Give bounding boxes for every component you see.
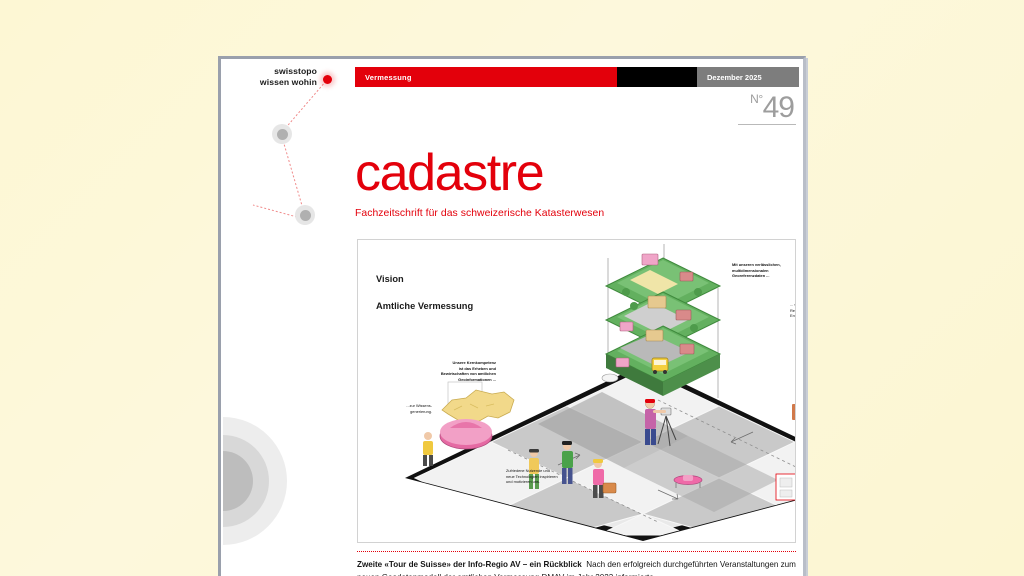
caption-kernkompetenz: Unsere Kernkompetenz ist das Erheben und… bbox=[384, 360, 496, 382]
caption-nutzende: Zufriedene Nutzende und neue Technologie… bbox=[506, 468, 636, 485]
page-inner: swisstopo wissen wohin Vermessung Dezemb… bbox=[223, 61, 802, 576]
teaser-text: Zweite «Tour de Suisse» der Info-Regio A… bbox=[357, 558, 796, 576]
masthead: cadastre Fachzeitschrift für das schweiz… bbox=[355, 147, 775, 219]
caption-grundbuch: Wir liefern dem Grundbuch die geometrisc… bbox=[790, 372, 796, 394]
cover-teaser: Zweite «Tour de Suisse» der Info-Regio A… bbox=[357, 551, 796, 576]
caption-rechtssicherheit: ... schaffen wir Rechtssicherheit für En… bbox=[790, 302, 796, 319]
magazine-title: cadastre bbox=[355, 147, 775, 199]
swisstopo-logo-column: swisstopo wissen wohin bbox=[223, 61, 353, 576]
teaser-divider bbox=[357, 551, 796, 552]
cover-header-bars: Vermessung Dezember 2025 bbox=[355, 67, 799, 87]
issue-date-bar: Dezember 2025 bbox=[697, 67, 799, 87]
magazine-subtitle: Fachzeitschrift für das schweizerische K… bbox=[355, 208, 775, 219]
swisstopo-name: swisstopo bbox=[260, 66, 317, 77]
issue-number: N°49 bbox=[738, 93, 796, 125]
black-spacer-bar bbox=[617, 67, 697, 87]
caption-georeferenzdaten: Mit unseren verlässlichen, multidimensio… bbox=[732, 262, 796, 279]
category-bar: Vermessung bbox=[355, 67, 617, 87]
issue-value: 49 bbox=[763, 91, 794, 124]
cover-illustration: Vision Amtliche Vermessung bbox=[357, 239, 796, 543]
caption-grundeigentum: ... für die Sicherung des Grundeigentums… bbox=[772, 418, 796, 440]
concentric-circles-decoration bbox=[223, 417, 287, 545]
teaser-headline: Zweite «Tour de Suisse» der Info-Regio A… bbox=[357, 560, 582, 569]
magazine-cover-page: swisstopo wissen wohin Vermessung Dezemb… bbox=[218, 56, 806, 576]
red-dot-icon bbox=[323, 75, 332, 84]
logo-connector-lines bbox=[223, 61, 353, 261]
isometric-scene: Unsere Kernkompetenz ist das Erheben und… bbox=[358, 240, 795, 542]
issue-prefix: N° bbox=[750, 92, 762, 106]
isometric-vision-graphic bbox=[358, 240, 796, 543]
caption-wissensgenerierung: ...zur Wissens- generierung. bbox=[362, 403, 432, 414]
grey-dot-middle-icon bbox=[272, 124, 292, 144]
swisstopo-tagline: wissen wohin bbox=[260, 77, 317, 88]
swisstopo-wordmark: swisstopo wissen wohin bbox=[260, 66, 317, 88]
grey-dot-bottom-icon bbox=[295, 205, 315, 225]
